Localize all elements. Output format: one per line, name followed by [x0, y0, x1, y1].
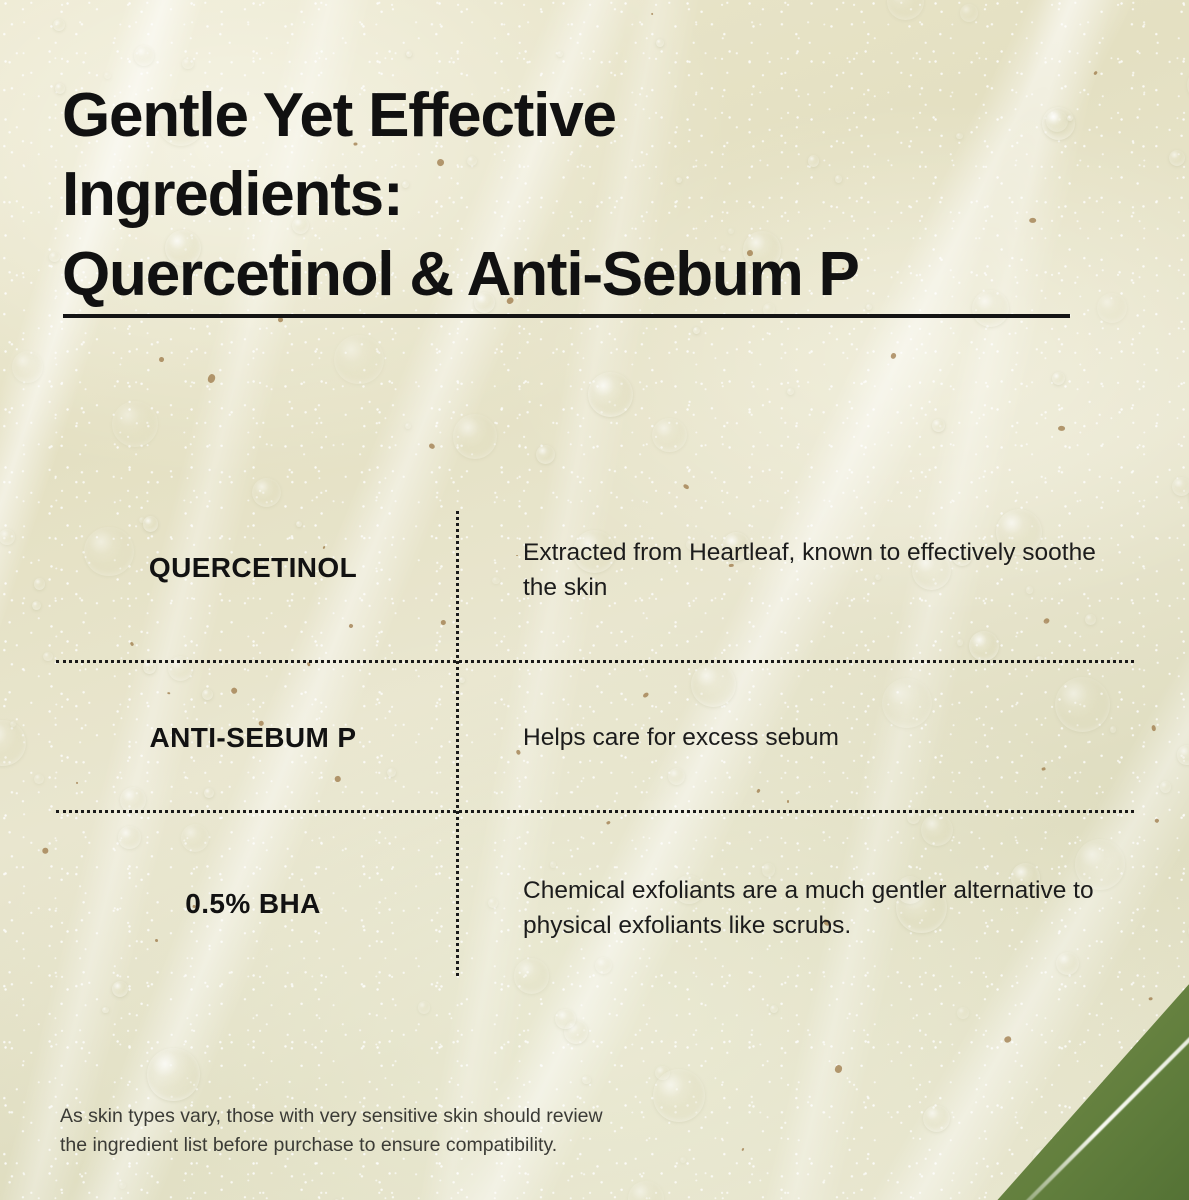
ingredient-name-bha: 0.5% BHA: [58, 888, 448, 920]
table-row-divider: [56, 660, 1134, 663]
table-row-divider: [56, 810, 1134, 813]
ingredient-description-bha: Chemical exfoliants are a much gentler a…: [523, 874, 1123, 944]
ingredient-description-quercetinol: Extracted from Heartleaf, known to effec…: [523, 536, 1123, 606]
disclaimer-footnote: As skin types vary, those with very sens…: [60, 1102, 740, 1161]
table-column-divider: [456, 511, 459, 976]
infographic-canvas: Gentle Yet Effective Ingredients: Querce…: [0, 0, 1189, 1200]
footnote-line-1: As skin types vary, those with very sens…: [60, 1102, 740, 1132]
ingredient-name-anti-sebum-p: ANTI-SEBUM P: [58, 722, 448, 754]
ingredient-table: QUERCETINOL Extracted from Heartleaf, kn…: [0, 0, 1189, 1200]
ingredient-name-quercetinol: QUERCETINOL: [58, 552, 448, 584]
ingredient-description-anti-sebum-p: Helps care for excess sebum: [523, 721, 1123, 756]
footnote-line-2: the ingredient list before purchase to e…: [60, 1131, 740, 1161]
